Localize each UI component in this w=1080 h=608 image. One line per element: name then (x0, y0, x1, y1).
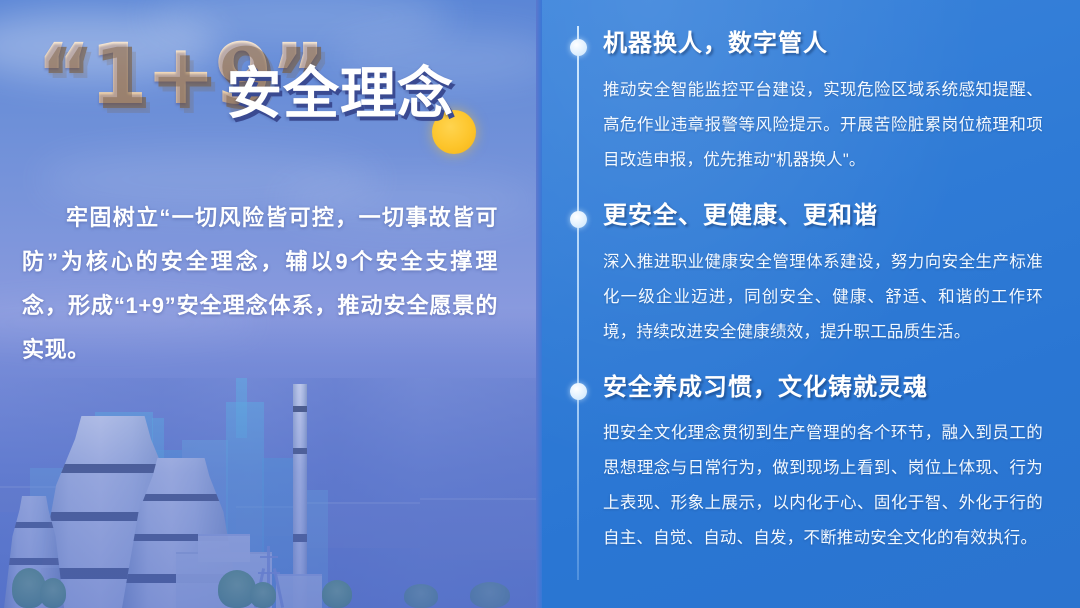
section-body: 把安全文化理念贯彻到生产管理的各个环节，融入到员工的思想理念与日常行为，做到现场… (603, 416, 1043, 556)
headline-group: “1+9” 安全理念 (28, 32, 508, 152)
left-paragraph: 牢固树立“一切风险皆可控，一切事故皆可防”为核心的安全理念，辅以9个安全支撑理念… (22, 196, 498, 372)
bullet-dot-icon (570, 383, 587, 400)
section-item: 更安全、更健康、更和谐 深入推进职业健康安全管理体系建设，努力向安全生产标准化一… (541, 202, 1058, 350)
section-title: 安全养成习惯，文化铸就灵魂 (603, 374, 1058, 403)
poster-root: “1+9” 安全理念 牢固树立“一切风险皆可控，一切事故皆可防”为核心的安全理念… (0, 0, 1080, 608)
section-title: 更安全、更健康、更和谐 (603, 202, 1058, 231)
section-body: 深入推进职业健康安全管理体系建设，努力向安全生产标准化一级企业迈进，同创安全、健… (603, 245, 1043, 350)
section-body: 推动安全智能监控平台建设，实现危险区域系统感知提醒、高危作业违章报警等风险提示。… (603, 73, 1043, 178)
section-item: 安全养成习惯，文化铸就灵魂 把安全文化理念贯彻到生产管理的各个环节，融入到员工的… (541, 374, 1058, 557)
left-panel: “1+9” 安全理念 牢固树立“一切风险皆可控，一切事故皆可防”为核心的安全理念… (0, 0, 541, 608)
bullet-dot-icon (570, 39, 587, 56)
bullet-dot-icon (570, 211, 587, 228)
section-title: 机器换人，数字管人 (603, 30, 1058, 59)
headline-title: 安全理念 (226, 66, 454, 122)
sections-list: 机器换人，数字管人 推动安全智能监控平台建设，实现危险区域系统感知提醒、高危作业… (541, 0, 1080, 556)
section-item: 机器换人，数字管人 推动安全智能监控平台建设，实现危险区域系统感知提醒、高危作业… (541, 30, 1058, 178)
right-panel: 机器换人，数字管人 推动安全智能监控平台建设，实现危险区域系统感知提醒、高危作业… (541, 0, 1080, 608)
